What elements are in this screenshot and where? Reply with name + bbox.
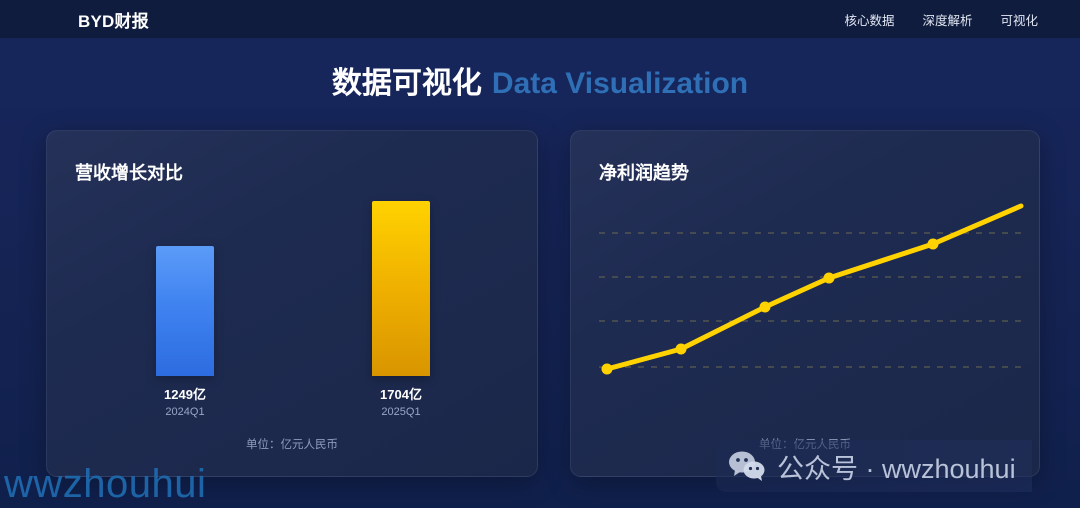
line-point-3[interactable]: [760, 302, 771, 313]
bar-value-2024q1: 1249亿: [125, 384, 245, 403]
gridlines: [599, 233, 1021, 367]
bar-chart: 1249亿 2024Q1 1704亿 2025Q1: [47, 131, 537, 476]
nav-link-visualization[interactable]: 可视化: [1000, 10, 1038, 29]
unit-label-net-profit: 单位：亿元人民币: [571, 436, 1039, 452]
bar-group-2025q1[interactable]: 1704亿 2025Q1: [341, 201, 461, 418]
page-title-cn: 数据可视化: [332, 67, 482, 100]
bar-category-2025q1: 2025Q1: [341, 406, 461, 418]
page-title: 数据可视化Data Visualization: [0, 58, 1080, 102]
top-navbar: BYD财报 核心数据 深度解析 可视化: [0, 0, 1080, 38]
nav-links: 核心数据 深度解析 可视化: [844, 10, 1038, 29]
revenue-comparison-card: 营收增长对比 1249亿 2024Q1 1704亿 2025Q1 单位：亿元人民…: [46, 130, 538, 477]
unit-label-revenue: 单位：亿元人民币: [47, 436, 537, 452]
bar-2024q1[interactable]: [156, 246, 214, 376]
net-profit-trend-card: 净利润趋势 单位：亿元人民币: [570, 130, 1040, 477]
line-point-5[interactable]: [928, 239, 939, 250]
line-point-1[interactable]: [602, 364, 613, 375]
bar-group-2024q1[interactable]: 1249亿 2024Q1: [125, 246, 245, 418]
bar-value-2025q1: 1704亿: [341, 384, 461, 403]
nav-link-core-data[interactable]: 核心数据: [844, 10, 894, 29]
line-chart: [571, 191, 1039, 441]
line-point-2[interactable]: [676, 344, 687, 355]
bar-2025q1[interactable]: [372, 201, 430, 376]
page-title-en: Data Visualization: [492, 67, 748, 100]
nav-link-deep-analysis[interactable]: 深度解析: [922, 10, 972, 29]
brand-title: BYD财报: [78, 7, 149, 32]
bar-category-2024q1: 2024Q1: [125, 406, 245, 418]
line-point-4[interactable]: [824, 273, 835, 284]
line-series-net-profit: [607, 206, 1021, 369]
card-title-net-profit: 净利润趋势: [599, 159, 689, 185]
